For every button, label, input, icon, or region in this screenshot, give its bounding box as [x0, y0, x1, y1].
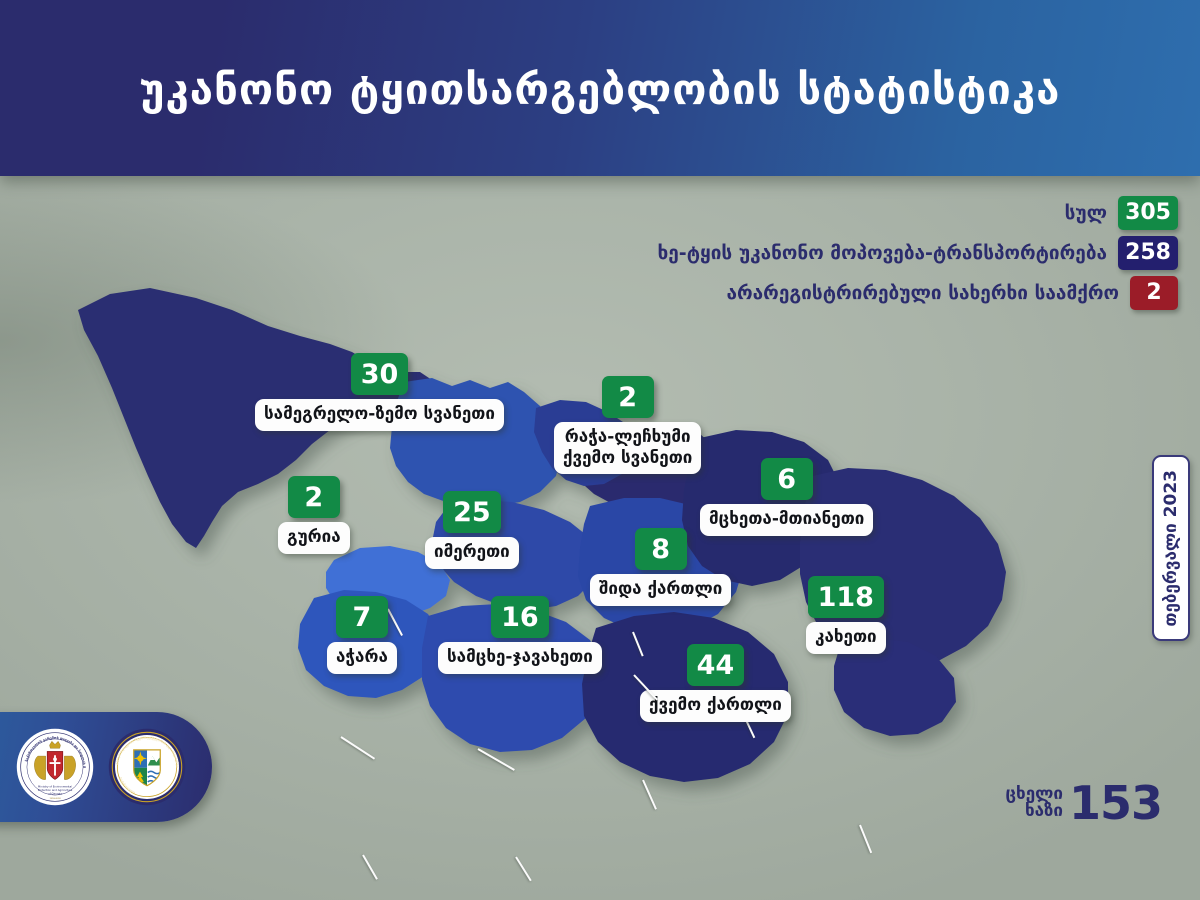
svg-text:of Georgia: of Georgia [48, 791, 62, 795]
marker-label-shida-kartli: შიდა ქართლი [590, 574, 731, 606]
marker-label-kvemo-kartli: ქვემო ქართლი [640, 690, 791, 722]
marker-kakheti[interactable]: 118 კახეთი [806, 576, 886, 654]
marker-imereti[interactable]: 25 იმერეთი [425, 491, 519, 569]
marker-label-samegrelo: სამეგრელო-ზემო სვანეთი [255, 399, 504, 431]
hotline-label: ცხელი ხაზი [1005, 786, 1063, 821]
marker-value-kvemo-kartli: 44 [687, 644, 745, 686]
marker-kvemo-kartli[interactable]: 44 ქვემო ქართლი [640, 644, 791, 722]
infographic-root: უკანონო ტყითსარგებლობის სტატისტიკა სულ 3… [0, 0, 1200, 900]
ministry-emblem-icon: საქართველოს გარემოს დაცვისა და სოფლის მე… [16, 728, 94, 806]
page-title: უკანონო ტყითსარგებლობის სტატისტიკა [140, 65, 1061, 111]
date-badge-text: თებერვალი 2023 [1163, 470, 1180, 627]
hotline-label-line2: ხაზი [1005, 803, 1063, 820]
marker-label-kakheti: კახეთი [806, 622, 886, 654]
marker-guria[interactable]: 2 გურია [278, 476, 350, 554]
marker-value-samtskhe: 16 [491, 596, 549, 638]
marker-value-adjara: 7 [336, 596, 388, 638]
date-badge: თებერვალი 2023 [1152, 455, 1190, 641]
hotline: ცხელი ხაზი 153 [1005, 782, 1162, 824]
svg-text:Ministry of Environmental: Ministry of Environmental [38, 784, 72, 788]
marker-label-imereti: იმერეთი [425, 537, 519, 569]
marker-adjara[interactable]: 7 აჭარა [327, 596, 397, 674]
hotline-number: 153 [1069, 782, 1162, 824]
marker-label-adjara: აჭარა [327, 642, 397, 674]
marker-racha[interactable]: 2 რაჭა-ლეჩხუმიქვემო სვანეთი [554, 376, 701, 474]
header-banner: უკანონო ტყითსარგებლობის სტატისტიკა [0, 0, 1200, 176]
marker-value-imereti: 25 [443, 491, 501, 533]
marker-label-samtskhe: სამცხე-ჯავახეთი [438, 642, 602, 674]
supervision-emblem-icon: გარემოსდაცვითი ზედამხედველობის დეპარტამე… [108, 728, 186, 806]
marker-shida-kartli[interactable]: 8 შიდა ქართლი [590, 528, 731, 606]
marker-value-samegrelo: 30 [351, 353, 409, 395]
marker-label-racha: რაჭა-ლეჩხუმიქვემო სვანეთი [554, 422, 701, 474]
marker-value-racha: 2 [602, 376, 654, 418]
logo-pill: საქართველოს გარემოს დაცვისა და სოფლის მე… [0, 712, 212, 822]
marker-value-mtskheta: 6 [761, 458, 813, 500]
marker-value-kakheti: 118 [808, 576, 884, 618]
marker-value-guria: 2 [288, 476, 340, 518]
marker-label-guria: გურია [278, 522, 350, 554]
svg-text:1918-2018: 1918-2018 [50, 798, 62, 800]
marker-mtskheta[interactable]: 6 მცხეთა-მთიანეთი [700, 458, 873, 536]
svg-text:Protection and Agriculture: Protection and Agriculture [38, 788, 73, 792]
marker-samegrelo[interactable]: 30 სამეგრელო-ზემო სვანეთი [255, 353, 504, 431]
marker-value-shida-kartli: 8 [635, 528, 687, 570]
marker-samtskhe[interactable]: 16 სამცხე-ჯავახეთი [438, 596, 602, 674]
